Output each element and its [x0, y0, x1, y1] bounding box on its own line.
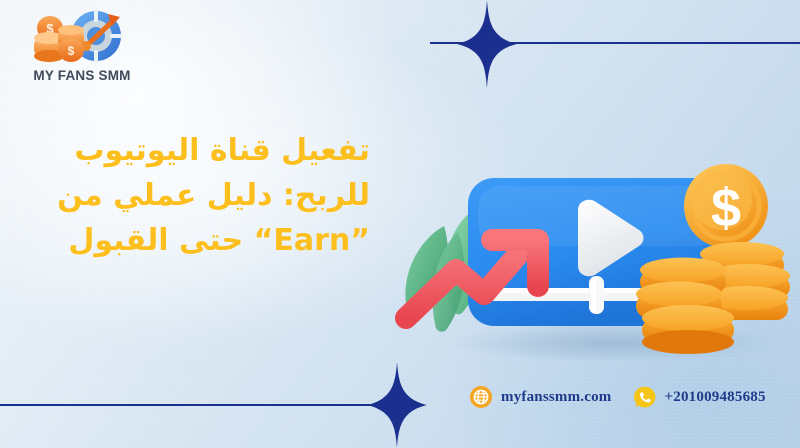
headline-line-3: ”Earn“ حتى القبول	[18, 218, 370, 263]
sparkle-top	[457, 0, 517, 88]
whatsapp-label: +201009485685	[665, 389, 766, 406]
banner-canvas: $ $ MY FANS SMM تفعيل قناة اليوتيوب للرب…	[0, 0, 800, 448]
svg-text:$: $	[68, 44, 75, 58]
video-monetization-illustration: $	[392, 128, 792, 360]
decor-rule-bottom	[0, 404, 420, 406]
contact-website[interactable]: myfanssmm.com	[470, 386, 612, 408]
page-title: تفعيل قناة اليوتيوب للربح: دليل عملي من …	[18, 128, 370, 263]
svg-text:$: $	[711, 178, 741, 238]
whatsapp-icon	[634, 386, 656, 408]
website-label: myfanssmm.com	[501, 389, 612, 406]
sparkle-bottom	[367, 362, 427, 448]
contact-whatsapp[interactable]: +201009485685	[634, 386, 766, 408]
headline-line-2: للربح: دليل عملي من	[18, 173, 370, 218]
headline-line-1: تفعيل قناة اليوتيوب	[18, 128, 370, 173]
contact-bar: myfanssmm.com +201009485685	[470, 386, 766, 408]
globe-icon	[470, 386, 492, 408]
dollar-coin-icon: $	[684, 164, 768, 248]
brand-name: MY FANS SMM	[22, 68, 142, 83]
brand-logo[interactable]: $ $ MY FANS SMM	[14, 8, 150, 94]
coins-and-target-icon: $ $	[22, 8, 140, 66]
